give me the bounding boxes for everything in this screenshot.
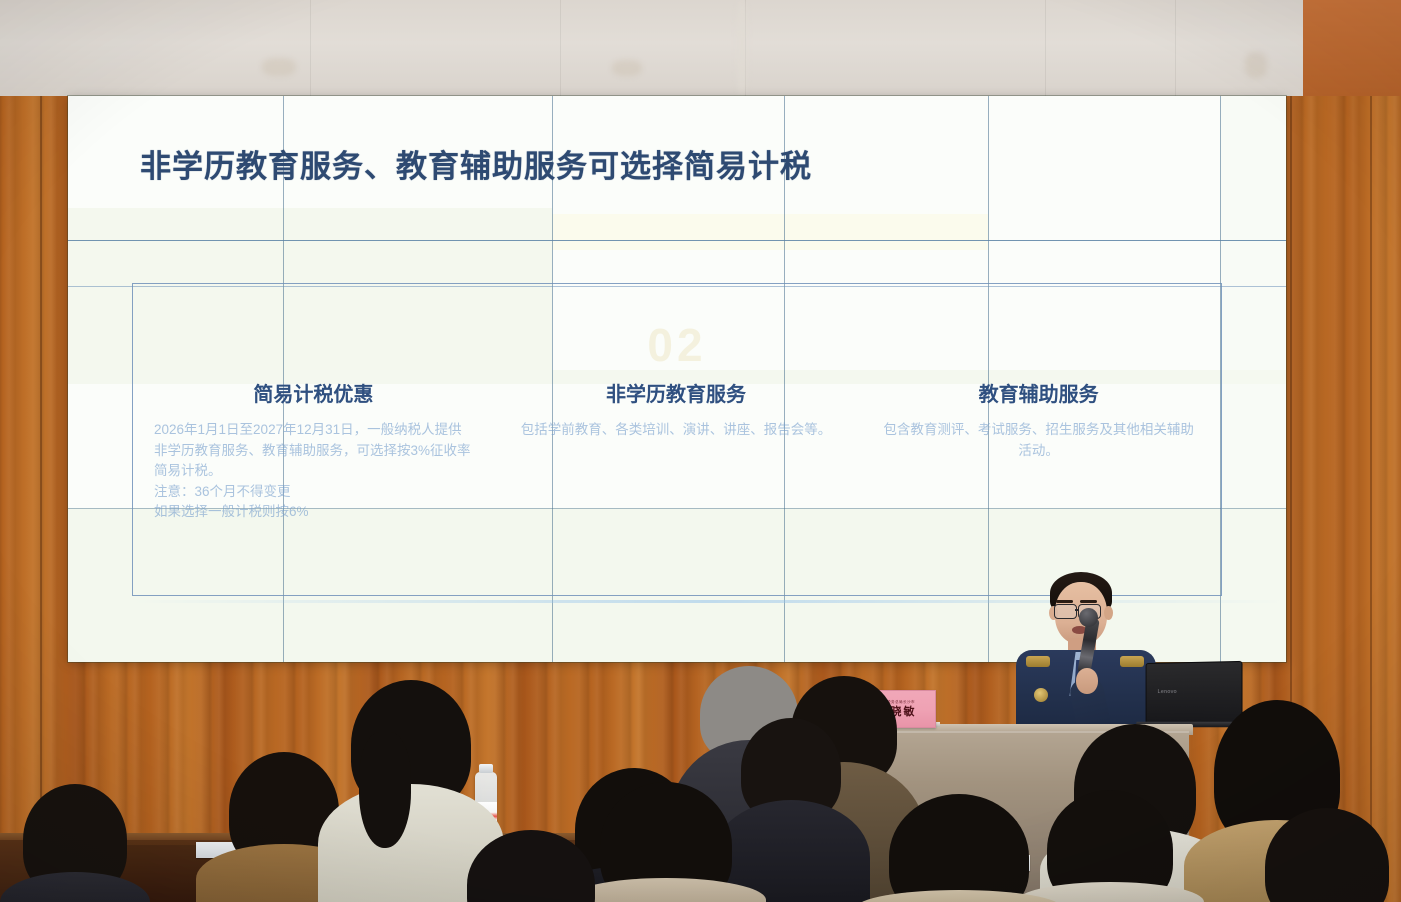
wall-seam xyxy=(1370,0,1372,902)
upper-wall xyxy=(0,0,1401,96)
column-heading: 教育辅助服务 xyxy=(879,378,1198,407)
presenter-hand xyxy=(1076,668,1098,694)
audience-member xyxy=(0,784,150,902)
column-body: 2026年1月1日至2027年12月31日，一般纳税人提供非学历教育服务、教育辅… xyxy=(154,420,473,523)
audience-member xyxy=(436,830,626,902)
slide-title: 非学历教育服务、教育辅助服务可选择简易计税 xyxy=(140,141,812,186)
photo-scene: 非学历教育服务、教育辅助服务可选择简易计税 02 简易计税优惠 2026年1月1… xyxy=(0,0,1401,902)
column-heading: 简易计税优惠 xyxy=(154,378,473,407)
audience-member xyxy=(1242,808,1401,902)
uniform-epaulette xyxy=(1120,656,1144,667)
slide-columns: 简易计税优惠 2026年1月1日至2027年12月31日，一般纳税人提供非学历教… xyxy=(132,378,1220,523)
uniform-epaulette xyxy=(1026,656,1050,667)
slide-column-1: 简易计税优惠 2026年1月1日至2027年12月31日，一般纳税人提供非学历教… xyxy=(132,378,495,523)
column-body: 包括学前教育、各类培训、演讲、讲座、报告会等。 xyxy=(517,420,836,441)
audience-member xyxy=(856,794,1062,902)
slide-column-2: 非学历教育服务 包括学前教育、各类培训、演讲、讲座、报告会等。 xyxy=(495,378,858,523)
upper-wall-right-edge xyxy=(1303,0,1401,96)
glasses-bridge xyxy=(1075,609,1079,611)
slide-column-3: 教育辅助服务 包含教育测评、考试服务、招生服务及其他相关辅助活动。 xyxy=(857,378,1220,523)
presenter-brow xyxy=(1056,600,1073,603)
glasses-lens xyxy=(1054,604,1077,619)
column-body: 包含教育测评、考试服务、招生服务及其他相关辅助活动。 xyxy=(879,420,1198,461)
presenter-ear xyxy=(1104,606,1113,620)
column-heading: 非学历教育服务 xyxy=(517,378,836,407)
slide-title-rule xyxy=(68,240,1286,241)
uniform-badge xyxy=(1034,688,1048,702)
laptop-brand-label: Lenovo xyxy=(1158,689,1177,695)
presenter-brow xyxy=(1080,600,1097,603)
wall-seam xyxy=(40,0,42,902)
